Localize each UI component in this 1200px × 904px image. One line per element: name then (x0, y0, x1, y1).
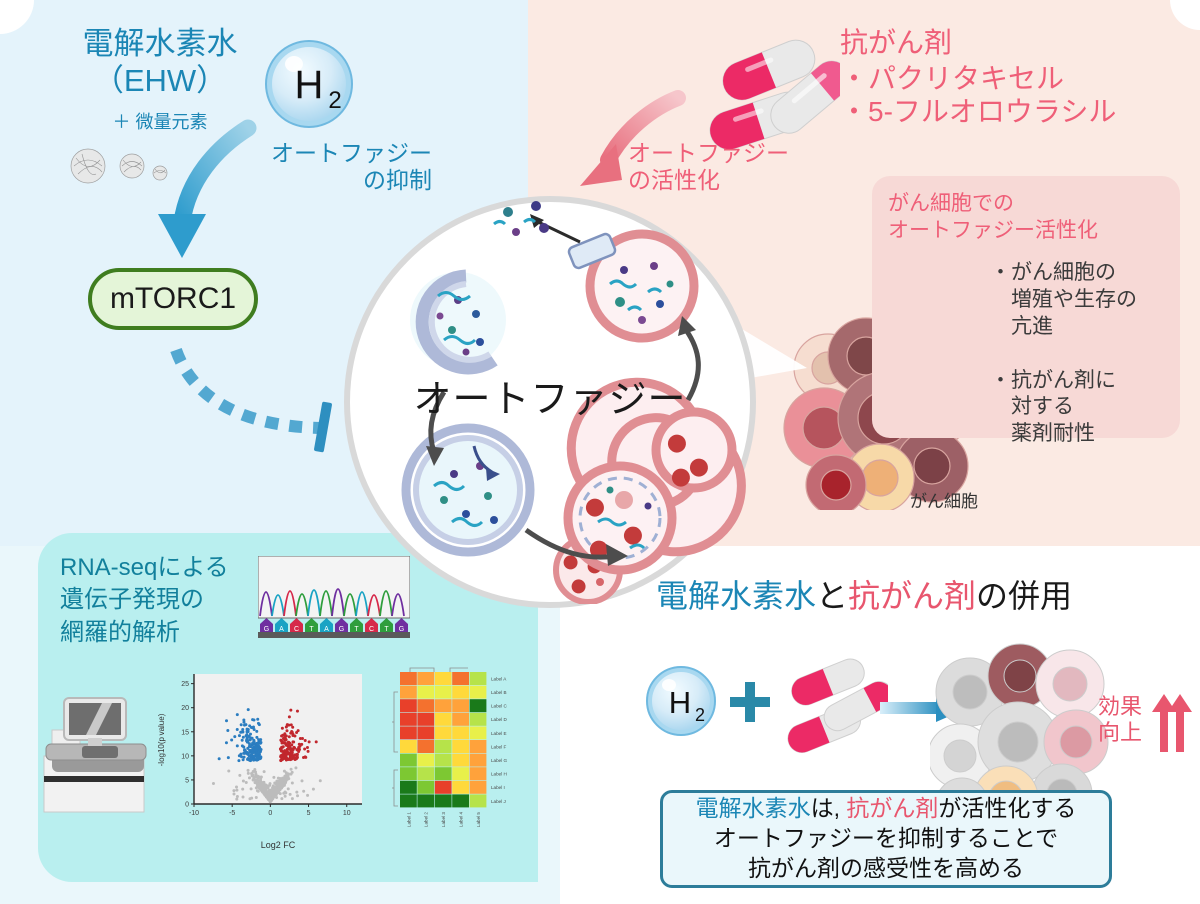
svg-text:H: H (669, 685, 691, 720)
effect-improvement-label: 効果 向上 (1098, 694, 1142, 747)
heatmap-cell (452, 713, 469, 726)
volcano-point (254, 775, 257, 778)
dna-base-letter: T (309, 626, 314, 633)
conclusion-span: は, (811, 795, 847, 821)
volcano-point (315, 740, 318, 743)
heatmap-cell (417, 672, 434, 685)
volcano-point (243, 756, 246, 759)
volcano-point (241, 730, 244, 733)
volcano-point (255, 730, 258, 733)
volcano-point (291, 797, 294, 800)
volcano-point (251, 718, 254, 721)
cancer-cells-caption: がん細胞 (910, 492, 978, 512)
heatmap-cell (435, 713, 452, 726)
combination-title-part: 電解水素水 (656, 578, 816, 614)
volcano-point (244, 723, 247, 726)
recycling-vesicle-icon (494, 201, 694, 338)
heatmap-cell (452, 672, 469, 685)
volcano-point (287, 787, 290, 790)
volcano-point (298, 745, 301, 748)
heatmap-cell (452, 686, 469, 699)
heatmap-col-label: Label 4 (459, 812, 464, 828)
volcano-point (296, 756, 299, 759)
volcano-point (263, 770, 266, 773)
heatmap-cell (452, 740, 469, 753)
volcano-point (301, 737, 304, 740)
volcano-point (302, 790, 305, 793)
volcano-point (292, 757, 295, 760)
heatmap-cell (452, 767, 469, 780)
volcano-point (272, 784, 275, 787)
info-card-title: がん細胞での オートファジー活性化 (888, 190, 1098, 245)
volcano-ylabel: -log10(p value) (157, 713, 166, 766)
volcano-point (257, 722, 260, 725)
volcano-point (285, 738, 288, 741)
combination-title-part: 抗がん剤 (848, 578, 976, 614)
volcano-point (281, 746, 284, 749)
volcano-point (249, 757, 252, 760)
volcano-point (247, 769, 250, 772)
volcano-point (268, 789, 271, 792)
rnaseq-title: RNA-seqによる 遺伝子発現の 網羅的解析 (60, 552, 229, 649)
autophagosome-icon (406, 428, 530, 552)
heatmap-cell (400, 740, 417, 753)
heatmap-cell (452, 781, 469, 794)
volcano-point (259, 756, 262, 759)
svg-text:H: H (295, 63, 324, 107)
volcano-point (235, 798, 238, 801)
volcano-point (235, 786, 238, 789)
volcano-point (247, 708, 250, 711)
volcano-point (280, 748, 283, 751)
ehw-title: 電解水素水 （EHW） (60, 26, 260, 99)
dna-base-letter: T (384, 626, 389, 633)
volcano-point (240, 723, 243, 726)
volcano-point (257, 790, 260, 793)
volcano-point (241, 795, 244, 798)
heatmap-row-label: Label J (491, 799, 506, 804)
plus-sign-icon (728, 680, 772, 724)
heatmap-cell (452, 699, 469, 712)
volcano-point (295, 791, 298, 794)
heatmap-col-label: Label 3 (441, 812, 446, 828)
heatmap-cell (435, 740, 452, 753)
volcano-point (283, 735, 286, 738)
combination-title: 電解水素水と抗がん剤の併用 (656, 578, 1072, 616)
heatmap-cell (435, 672, 452, 685)
volcano-point (232, 789, 235, 792)
heatmap-cell (417, 726, 434, 739)
volcano-point (284, 742, 287, 745)
heatmap-cell (435, 726, 452, 739)
volcano-point (253, 768, 256, 771)
heatmap-cell (400, 686, 417, 699)
heatmap-row-label: Label E (491, 731, 507, 736)
mtorc1-node: mTORC1 (88, 268, 258, 330)
heatmap-row-label: Label A (491, 676, 507, 681)
volcano-ytick: 0 (185, 802, 189, 809)
volcano-point (254, 773, 257, 776)
heatmap-cell (400, 713, 417, 726)
volcano-point (286, 729, 289, 732)
volcano-point (238, 774, 241, 777)
volcano-point (269, 793, 272, 796)
heatmap-cell (470, 699, 487, 712)
volcano-point (262, 784, 265, 787)
dna-base-letter: T (354, 626, 359, 633)
volcano-point (280, 797, 283, 800)
volcano-point (259, 741, 262, 744)
heatmap-cell (400, 794, 417, 807)
conclusion-span: 抗がん剤の感受性を高める (748, 855, 1024, 881)
heatmap-cell (417, 699, 434, 712)
heatmap-cell (400, 726, 417, 739)
volcano-point (297, 729, 300, 732)
volcano-point (242, 718, 245, 721)
heatmap-cell (400, 754, 417, 767)
dna-base-row: GACTAGTCTG (258, 618, 410, 638)
dna-base-letter: A (279, 626, 284, 633)
heatmap-row-label: Label H (491, 772, 507, 777)
pill-capsules-small-icon (778, 656, 888, 756)
volcano-point (283, 784, 286, 787)
volcano-point (236, 713, 239, 716)
volcano-point (264, 783, 267, 786)
volcano-point (276, 789, 279, 792)
conclusion-span: 電解水素水 (696, 795, 811, 821)
volcano-point (255, 796, 258, 799)
volcano-point (319, 779, 322, 782)
volcano-point (236, 795, 239, 798)
svg-text:2: 2 (695, 705, 705, 725)
conclusion-line: オートファジーを抑制することで (714, 824, 1058, 854)
heatmap-cell (470, 672, 487, 685)
volcano-point (246, 758, 249, 761)
sequencer-machine-icon (40, 672, 166, 818)
up-arrows-icon (1150, 690, 1194, 754)
volcano-point (246, 730, 249, 733)
volcano-point (285, 726, 288, 729)
dashed-inhibition-arrow-icon (168, 340, 358, 460)
volcano-point (239, 753, 242, 756)
expression-heatmap-chart: Label ALabel BLabel CLabel DLabel ELabel… (392, 666, 537, 846)
conclusion-line: 電解水素水は, 抗がん剤が活性化する (696, 794, 1077, 824)
volcano-point (290, 753, 293, 756)
volcano-point (302, 756, 305, 759)
heatmap-cell (417, 713, 434, 726)
volcano-point (242, 758, 245, 761)
volcano-point (304, 739, 307, 742)
volcano-point (296, 710, 299, 713)
volcano-point (292, 740, 295, 743)
heatmap-row-label: Label F (491, 744, 507, 749)
volcano-point (226, 729, 229, 732)
info-card-bullets: ・がん細胞の 増殖や生存の 亢進 ・抗がん剤に 対する 薬剤耐性 (990, 260, 1137, 448)
volcano-point (280, 781, 283, 784)
volcano-point (285, 752, 288, 755)
volcano-point (238, 734, 241, 737)
volcano-point (250, 797, 253, 800)
volcano-point (250, 772, 253, 775)
heatmap-row-label: Label D (491, 717, 508, 722)
heatmap-cell (400, 781, 417, 794)
conclusion-text: 電解水素水は, 抗がん剤が活性化するオートファジーを抑制することで抗がん剤の感受… (663, 793, 1109, 885)
heatmap-cell (435, 754, 452, 767)
volcano-point (233, 735, 236, 738)
volcano-point (250, 787, 253, 790)
conclusion-box: 電解水素水は, 抗がん剤が活性化するオートファジーを抑制することで抗がん剤の感受… (660, 790, 1112, 888)
anticancer-drug-title: 抗がん剤 (840, 26, 952, 59)
volcano-point (293, 747, 296, 750)
volcano-point (291, 734, 294, 737)
conclusion-line: 抗がん剤の感受性を高める (748, 854, 1024, 884)
volcano-point (306, 794, 309, 797)
volcano-ytick: 20 (181, 705, 189, 712)
volcano-point (248, 776, 251, 779)
volcano-point (281, 727, 284, 730)
volcano-point (262, 781, 265, 784)
volcano-point (288, 715, 291, 718)
volcano-point (259, 749, 262, 752)
volcano-point (308, 740, 311, 743)
heatmap-cell (470, 740, 487, 753)
heatmap-cell (435, 781, 452, 794)
volcano-point (255, 781, 258, 784)
volcano-xtick: 0 (268, 810, 272, 817)
volcano-point (289, 709, 292, 712)
heatmap-cell (417, 740, 434, 753)
heatmap-cell (452, 794, 469, 807)
volcano-point (237, 759, 240, 762)
heatmap-cell (470, 686, 487, 699)
dna-base-letter: A (324, 626, 329, 633)
volcano-point (255, 753, 258, 756)
volcano-point (246, 753, 249, 756)
cancer-autophagy-info-card: がん細胞での オートファジー活性化 ・がん細胞の 増殖や生存の 亢進 ・抗がん剤… (872, 176, 1180, 438)
volcano-point (289, 793, 292, 796)
heatmap-cell (470, 754, 487, 767)
volcano-point (243, 748, 246, 751)
combination-title-part: の併用 (976, 578, 1072, 614)
volcano-point (279, 792, 282, 795)
heatmap-row-label: Label B (491, 690, 507, 695)
heatmap-cell (435, 767, 452, 780)
volcano-point (300, 779, 303, 782)
volcano-xtick: 5 (307, 810, 311, 817)
volcano-xtick: -5 (229, 810, 235, 817)
volcano-point (236, 728, 239, 731)
heatmap-col-label: Label 2 (424, 812, 429, 828)
volcano-point (246, 747, 249, 750)
dna-base-letter: C (369, 626, 374, 633)
heatmap-cell (470, 781, 487, 794)
heatmap-cell (417, 686, 434, 699)
heatmap-cell (417, 794, 434, 807)
heatmap-cell (452, 754, 469, 767)
volcano-ytick: 5 (185, 777, 189, 784)
heatmap-col-label: Label 1 (406, 812, 411, 828)
dna-base-letter: G (399, 626, 404, 633)
volcano-point (283, 781, 286, 784)
dna-chromatogram-icon: GACTAGTCTG (258, 556, 410, 642)
autophagy-activation-label: オートファジー の活性化 (628, 140, 789, 194)
dna-base-letter: G (339, 626, 344, 633)
volcano-point (289, 747, 292, 750)
h2-bubble-icon: H 2 (263, 38, 355, 130)
heatmap-row-label: Label I (491, 785, 505, 790)
volcano-point (242, 780, 245, 783)
volcano-point (290, 743, 293, 746)
dna-base-letter: C (294, 626, 299, 633)
volcano-point (257, 738, 260, 741)
volcano-point (287, 774, 290, 777)
volcano-point (290, 730, 293, 733)
volcano-point (306, 746, 309, 749)
volcano-point (307, 750, 310, 753)
dna-base-letter: G (264, 626, 269, 633)
volcano-point (241, 788, 244, 791)
volcano-point (248, 724, 251, 727)
volcano-point (242, 752, 245, 755)
volcano-point (263, 790, 266, 793)
volcano-point (250, 752, 253, 755)
volcano-point (249, 733, 252, 736)
conclusion-span: が活性化する (938, 795, 1076, 821)
heatmap-cell (470, 767, 487, 780)
volcano-point (258, 786, 261, 789)
volcano-point (269, 782, 272, 785)
conclusion-span: オートファジーを抑制することで (714, 825, 1058, 851)
volcano-point (258, 780, 261, 783)
volcano-point (256, 718, 259, 721)
phagophore-icon (410, 272, 506, 368)
volcano-plot-chart: -10-505100510152025 Log2 FC -log10(p val… (150, 668, 376, 853)
heatmap-cell (400, 672, 417, 685)
volcano-point (296, 794, 299, 797)
h2-bubble-small-icon: H 2 (644, 664, 718, 738)
volcano-point (312, 788, 315, 791)
volcano-point (251, 726, 254, 729)
volcano-point (303, 747, 306, 750)
heatmap-cell (400, 699, 417, 712)
volcano-point (287, 777, 290, 780)
volcano-point (233, 792, 236, 795)
volcano-point (235, 789, 238, 792)
volcano-point (294, 766, 297, 769)
volcano-point (255, 742, 258, 745)
center-autophagy-label: オートファジー (360, 368, 740, 423)
heatmap-cell (435, 794, 452, 807)
combination-title-part: と (816, 578, 848, 614)
heatmap-cell (470, 794, 487, 807)
volcano-point (225, 741, 228, 744)
pill-capsules-icon (700, 22, 840, 150)
volcano-point (256, 747, 259, 750)
volcano-point (282, 756, 285, 759)
volcano-point (247, 772, 250, 775)
volcano-point (255, 786, 258, 789)
figure-canvas: 電解水素水 （EHW） ＋ 微量元素 H 2 オートファジ (0, 0, 1200, 904)
volcano-ytick: 25 (181, 681, 189, 688)
volcano-point (251, 743, 254, 746)
volcano-ytick: 15 (181, 729, 189, 736)
volcano-point (271, 797, 274, 800)
volcano-point (296, 748, 299, 751)
heatmap-cell (435, 699, 452, 712)
volcano-xtick: -10 (189, 810, 199, 817)
volcano-point (245, 739, 248, 742)
volcano-point (227, 756, 230, 759)
heatmap-cell (400, 767, 417, 780)
heatmap-cell (452, 726, 469, 739)
volcano-point (242, 745, 245, 748)
volcano-point (291, 781, 294, 784)
volcano-point (225, 719, 228, 722)
volcano-point (236, 744, 239, 747)
volcano-point (291, 771, 294, 774)
volcano-point (277, 777, 280, 780)
volcano-point (284, 775, 287, 778)
conclusion-span: 抗がん剤 (846, 795, 938, 821)
heatmap-row-label: Label G (491, 758, 508, 763)
volcano-point (296, 753, 299, 756)
anticancer-drug-list: ・パクリタキセル ・5-フルオロウラシル (840, 62, 1116, 128)
heatmap-cell (470, 726, 487, 739)
volcano-point (265, 787, 268, 790)
volcano-point (240, 755, 243, 758)
volcano-point (279, 739, 282, 742)
volcano-point (258, 775, 261, 778)
volcano-point (242, 736, 245, 739)
heatmap-row-label: Label C (491, 704, 508, 709)
heatmap-cell (435, 686, 452, 699)
volcano-point (284, 795, 287, 798)
volcano-point (284, 790, 287, 793)
volcano-point (218, 757, 221, 760)
volcano-point (241, 739, 244, 742)
svg-text:2: 2 (328, 87, 341, 114)
volcano-point (290, 768, 293, 771)
volcano-point (288, 735, 291, 738)
volcano-ytick: 10 (181, 753, 189, 760)
volcano-point (212, 782, 215, 785)
volcano-point (227, 770, 230, 773)
volcano-point (230, 739, 233, 742)
volcano-point (290, 723, 293, 726)
volcano-point (272, 776, 275, 779)
heatmap-cell (417, 767, 434, 780)
heatmap-cell (417, 754, 434, 767)
volcano-point (245, 781, 248, 784)
volcano-point (287, 741, 290, 744)
volcano-point (253, 740, 256, 743)
volcano-point (264, 794, 267, 797)
volcano-point (285, 756, 288, 759)
volcano-point (280, 785, 283, 788)
volcano-xtick: 10 (343, 810, 351, 817)
heatmap-col-label: Label 5 (476, 812, 481, 828)
volcano-point (275, 796, 278, 799)
volcano-point (245, 733, 248, 736)
heatmap-cell (470, 713, 487, 726)
volcano-point (252, 759, 255, 762)
volcano-xlabel: Log2 FC (261, 840, 296, 850)
blue-arrow-to-mtorc1-icon (120, 118, 280, 278)
heatmap-cell (417, 781, 434, 794)
volcano-point (273, 782, 276, 785)
